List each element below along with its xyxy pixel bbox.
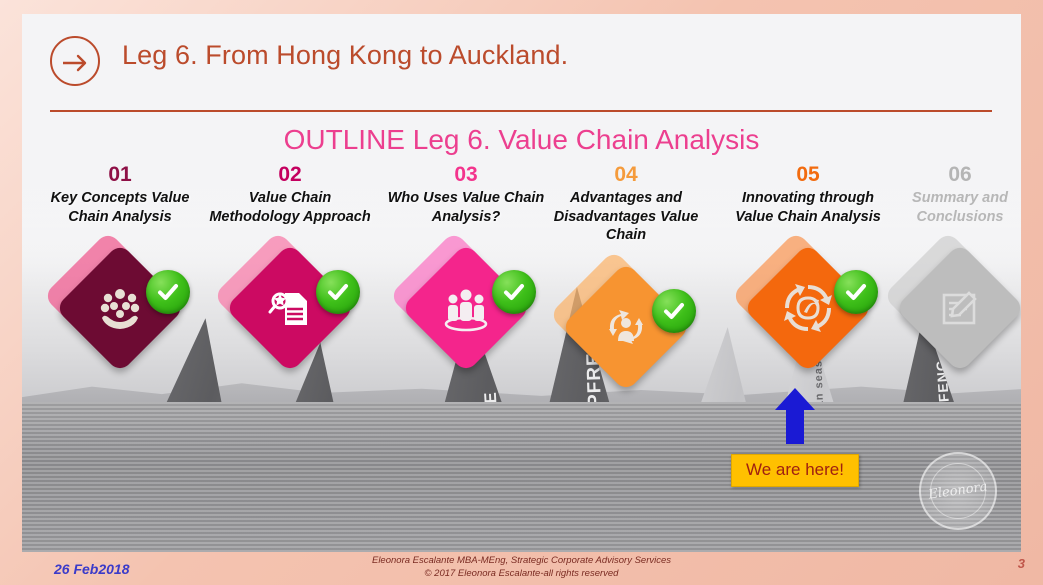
step-number: 06 xyxy=(876,164,1021,186)
completed-check-icon xyxy=(652,289,696,333)
step-label: Who Uses Value Chain Analysis? xyxy=(382,189,550,226)
header-divider xyxy=(50,110,992,112)
step-04[interactable]: 04 Advantages and Disadvantages Value Ch… xyxy=(542,164,710,405)
step-number: 03 xyxy=(382,164,550,186)
step-02[interactable]: 02 Value Chain Methodology Approach xyxy=(206,164,374,386)
notepad-pencil-icon xyxy=(914,262,1006,354)
step-number: 04 xyxy=(542,164,710,186)
step-label: Key Concepts Value Chain Analysis xyxy=(36,189,204,226)
step-label: Advantages and Disadvantages Value Chain xyxy=(542,189,710,245)
up-arrow-icon xyxy=(774,388,816,444)
completed-check-icon xyxy=(316,270,360,314)
step-label: Summary and Conclusions xyxy=(876,189,1021,226)
completed-check-icon xyxy=(492,270,536,314)
outline-steps: 01 Key Concepts Value Chain Analysis xyxy=(22,164,1021,552)
step-number: 05 xyxy=(724,164,892,186)
step-diamond[interactable] xyxy=(382,236,550,386)
outline-title: OUTLINE Leg 6. Value Chain Analysis xyxy=(22,124,1021,156)
completed-check-icon xyxy=(146,270,190,314)
step-number: 01 xyxy=(36,164,204,186)
completed-check-icon xyxy=(834,270,878,314)
step-06[interactable]: 06 Summary and Conclusions xyxy=(876,164,1021,386)
circled-arrow-right-icon xyxy=(50,36,100,86)
step-diamond[interactable] xyxy=(206,236,374,386)
footer-credit-line2: © 2017 Eleonora Escalante-all rights res… xyxy=(0,568,1043,581)
slide: Leg 6. From Hong Kong to Auckland. OUTLI… xyxy=(0,0,1043,585)
step-diamond[interactable] xyxy=(542,255,710,405)
footer-credit: Eleonora Escalante MBA-MEng, Strategic C… xyxy=(0,555,1043,580)
step-label: Innovating through Value Chain Analysis xyxy=(724,189,892,226)
slide-header: Leg 6. From Hong Kong to Auckland. xyxy=(50,32,992,106)
step-diamond[interactable] xyxy=(36,236,204,386)
step-label: Value Chain Methodology Approach xyxy=(206,189,374,226)
step-diamond[interactable] xyxy=(724,236,892,386)
step-05[interactable]: 05 Innovating through Value Chain Analys… xyxy=(724,164,892,386)
step-diamond[interactable] xyxy=(876,236,1021,386)
we-are-here-callout: We are here! xyxy=(731,454,859,487)
step-01[interactable]: 01 Key Concepts Value Chain Analysis xyxy=(36,164,204,386)
step-number: 02 xyxy=(206,164,374,186)
footer-credit-line1: Eleonora Escalante MBA-MEng, Strategic C… xyxy=(0,555,1043,568)
page-title: Leg 6. From Hong Kong to Auckland. xyxy=(122,40,568,71)
page-number: 3 xyxy=(1018,556,1025,571)
step-03[interactable]: 03 Who Uses Value Chain Analysis? xyxy=(382,164,550,386)
slide-card: Leg 6. From Hong Kong to Auckland. OUTLI… xyxy=(22,14,1021,552)
